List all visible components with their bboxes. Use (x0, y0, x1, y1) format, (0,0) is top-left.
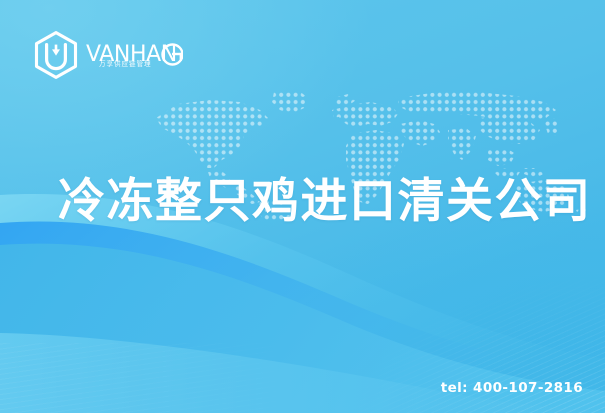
vanhang-wordmark-block: VANHAN 万享供应链管理 (86, 31, 183, 79)
promo-banner: VANHAN 万享供应链管理 冷冻整只鸡进口清关公司 tel: 400-107-… (0, 0, 605, 413)
vanhang-hexagon-mark (33, 31, 79, 79)
diagonal-line-texture-left (0, 343, 340, 413)
contact-phone: tel: 400-107-2816 (441, 380, 583, 396)
vanhang-logo: VANHAN 万享供应链管理 (33, 31, 183, 79)
vanhang-subtitle: 万享供应链管理 (99, 58, 151, 68)
page-title: 冷冻整只鸡进口清关公司 (58, 178, 592, 225)
